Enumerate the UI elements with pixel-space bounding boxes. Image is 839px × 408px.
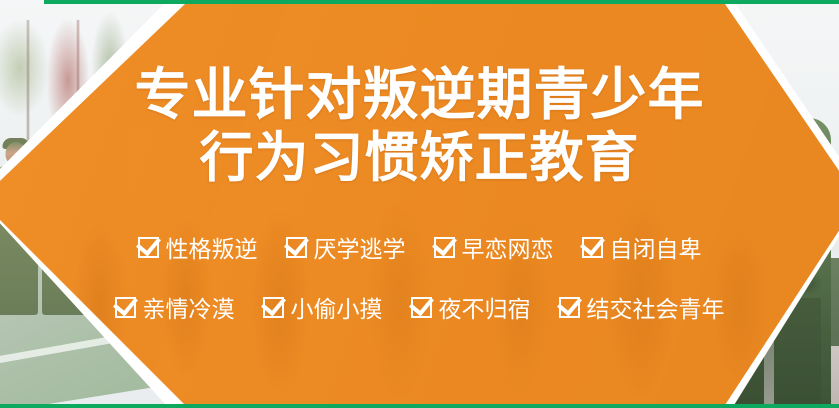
checklist-item-label: 性格叛逆 (166, 230, 258, 264)
headline-line-1: 专业针对叛逆期青少年 (135, 66, 705, 123)
checklist-item-label: 亲情冷漠 (143, 290, 235, 324)
checklist-item[interactable]: 小偷小摸 (263, 290, 383, 324)
bottom-green-rule (0, 404, 839, 408)
checkbox-checked-icon[interactable] (411, 297, 432, 318)
checklist-item[interactable]: 夜不归宿 (411, 290, 531, 324)
top-green-rule (44, 0, 839, 4)
checklist-item-label: 小偷小摸 (291, 290, 383, 324)
checklist-item-label: 厌学逃学 (314, 230, 406, 264)
checkbox-checked-icon[interactable] (138, 237, 159, 258)
checkbox-checked-icon[interactable] (434, 237, 455, 258)
checklist-item[interactable]: 性格叛逆 (138, 230, 258, 264)
checklist-item-label: 结交社会青年 (587, 290, 725, 324)
checklist-item-label: 自闭自卑 (610, 230, 702, 264)
checklist-row: 亲情冷漠 小偷小摸 夜不归宿 结交社会青年 (0, 290, 839, 324)
banner-content: 专业针对叛逆期青少年 行为习惯矫正教育 性格叛逆 厌学逃学 早恋网恋 (0, 0, 839, 408)
checklist-item-label: 早恋网恋 (462, 230, 554, 264)
checkbox-checked-icon[interactable] (286, 237, 307, 258)
checklist-item[interactable]: 早恋网恋 (434, 230, 554, 264)
checklist-item[interactable]: 亲情冷漠 (115, 290, 235, 324)
checklist-item[interactable]: 自闭自卑 (582, 230, 702, 264)
headline-line-2: 行为习惯矫正教育 (135, 131, 705, 186)
headline: 专业针对叛逆期青少年 行为习惯矫正教育 (135, 66, 705, 186)
checklist-item[interactable]: 结交社会青年 (559, 290, 725, 324)
checkbox-checked-icon[interactable] (263, 297, 284, 318)
checklist-row: 性格叛逆 厌学逃学 早恋网恋 自闭自卑 (0, 230, 839, 264)
checkbox-checked-icon[interactable] (115, 297, 136, 318)
checklist-item[interactable]: 厌学逃学 (286, 230, 406, 264)
checkbox-checked-icon[interactable] (582, 237, 603, 258)
promo-banner: 专业针对叛逆期青少年 行为习惯矫正教育 性格叛逆 厌学逃学 早恋网恋 (0, 0, 839, 408)
checklist: 性格叛逆 厌学逃学 早恋网恋 自闭自卑 亲情冷漠 (0, 230, 839, 350)
checkbox-checked-icon[interactable] (559, 297, 580, 318)
checklist-item-label: 夜不归宿 (439, 290, 531, 324)
